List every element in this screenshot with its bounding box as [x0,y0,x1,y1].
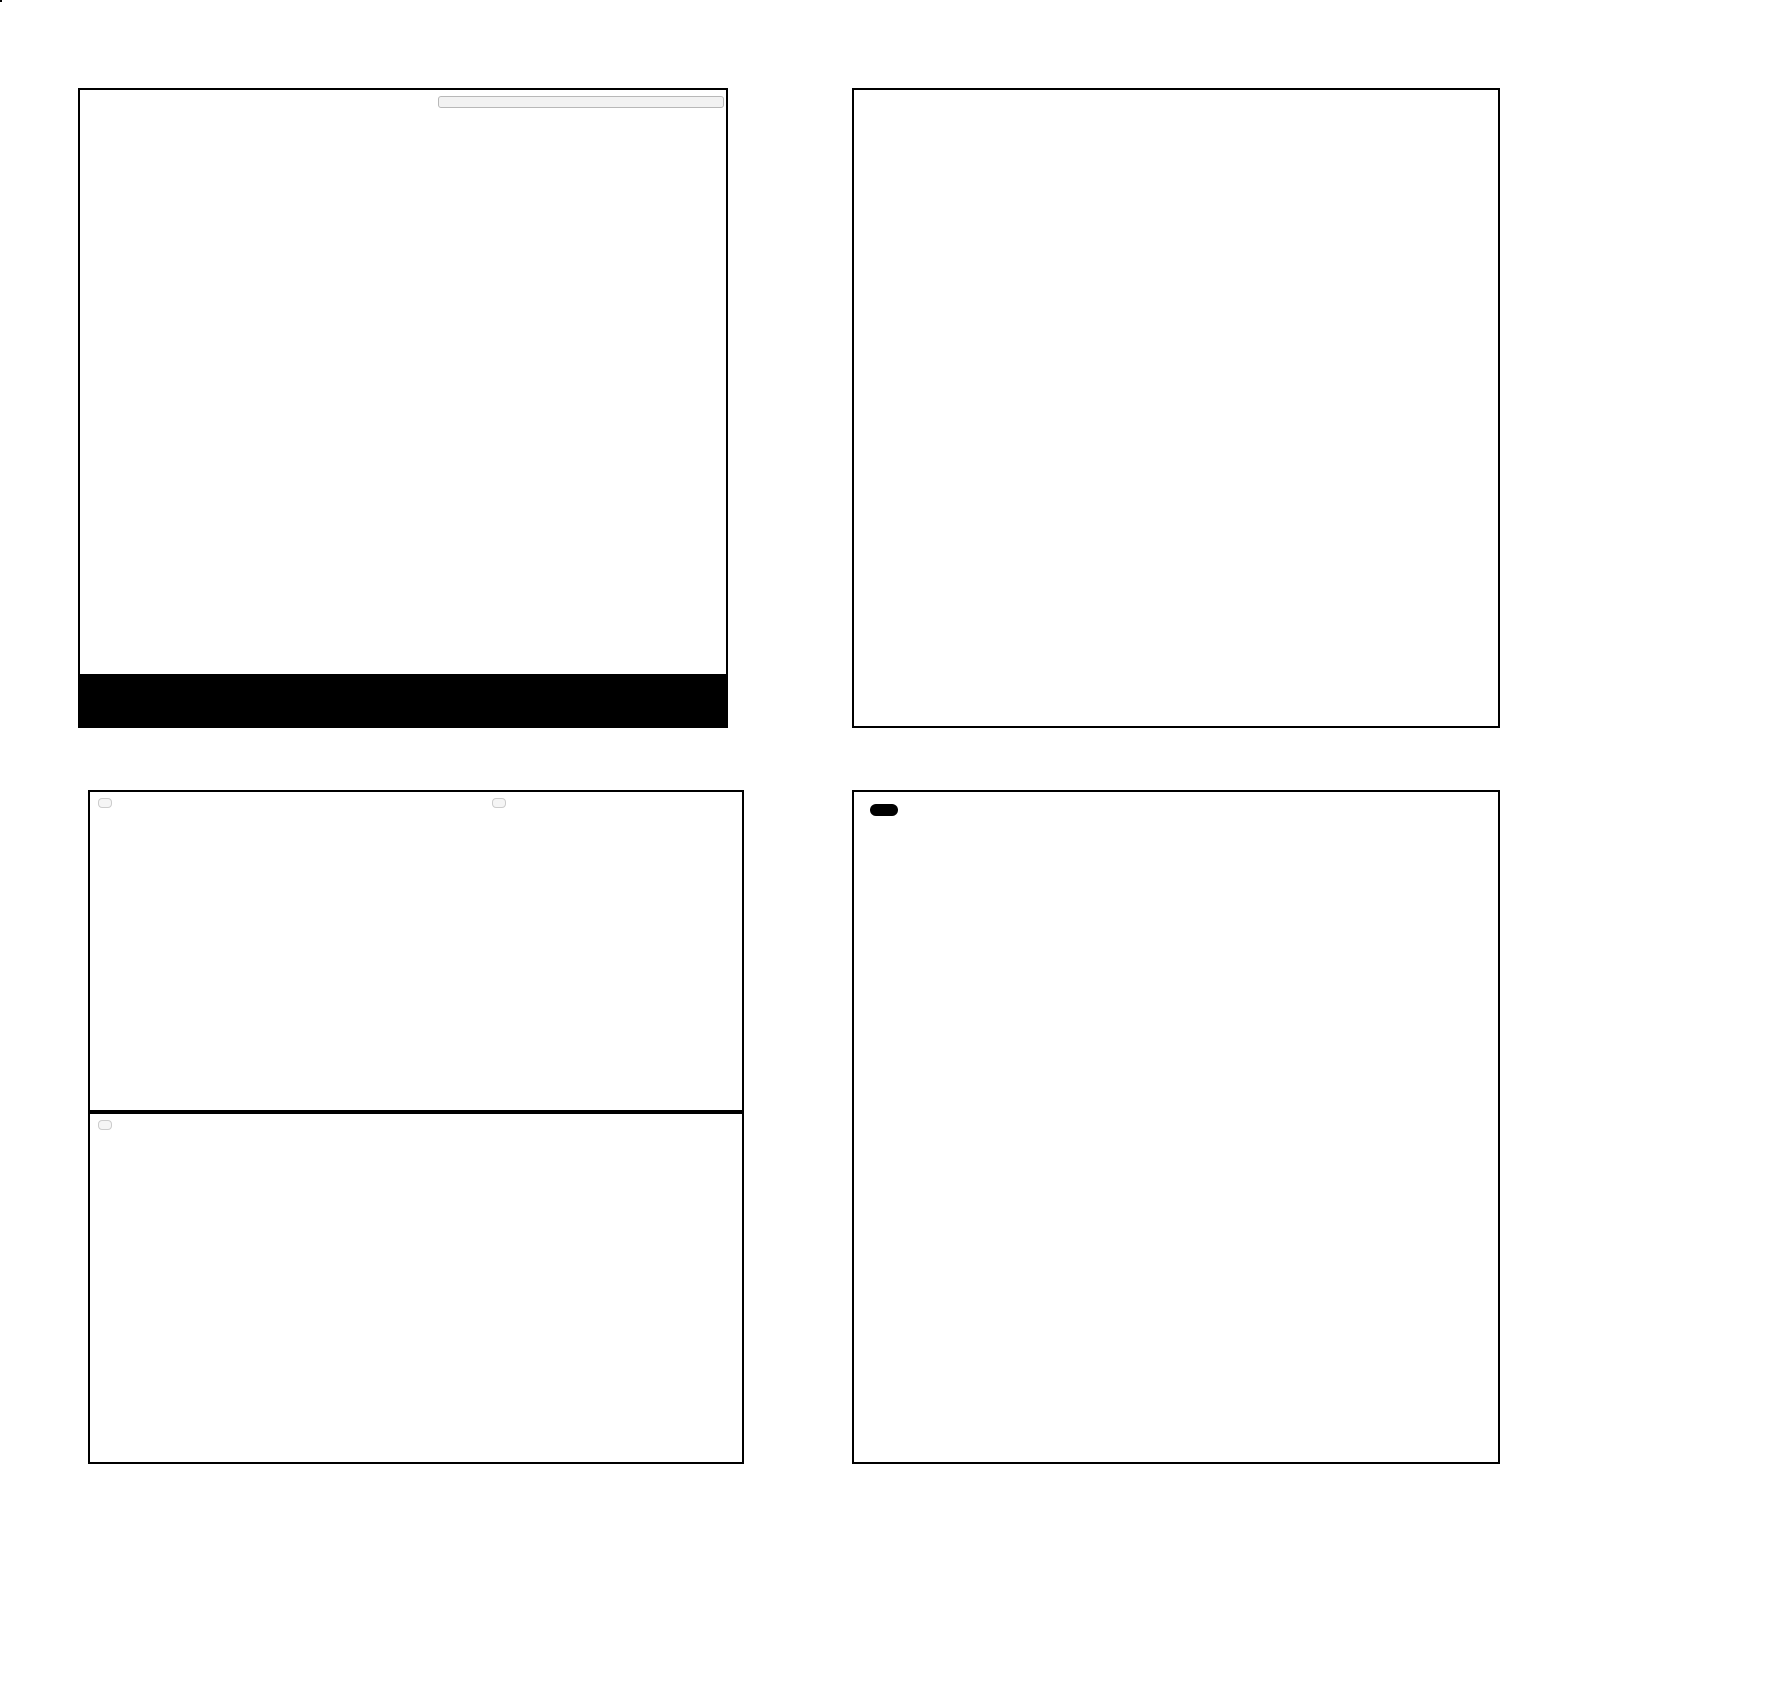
wind-chart-canvas [90,792,744,1112]
awv-colorbar-strip [0,0,2,2]
wind-pressure-chart[interactable] [88,790,744,1112]
ir-image-canvas [80,90,726,726]
pressure-chart-legend [492,798,506,808]
awv-satellite-panel[interactable] [852,88,1500,728]
copyright-band [80,674,726,726]
ir-legend-box [438,96,724,108]
ir-satellite-panel[interactable] [78,88,728,728]
dashboard-root [0,0,1788,1690]
wmg-panel[interactable] [852,790,1500,1464]
ace-chart[interactable] [88,1112,744,1464]
wmg-count-badge [870,804,898,816]
ace-chart-legend [98,1120,112,1130]
awv-image-canvas [854,90,1498,726]
wmg-image-canvas [854,792,1498,1462]
wind-chart-legend [98,798,112,808]
ace-chart-canvas [90,1114,744,1464]
